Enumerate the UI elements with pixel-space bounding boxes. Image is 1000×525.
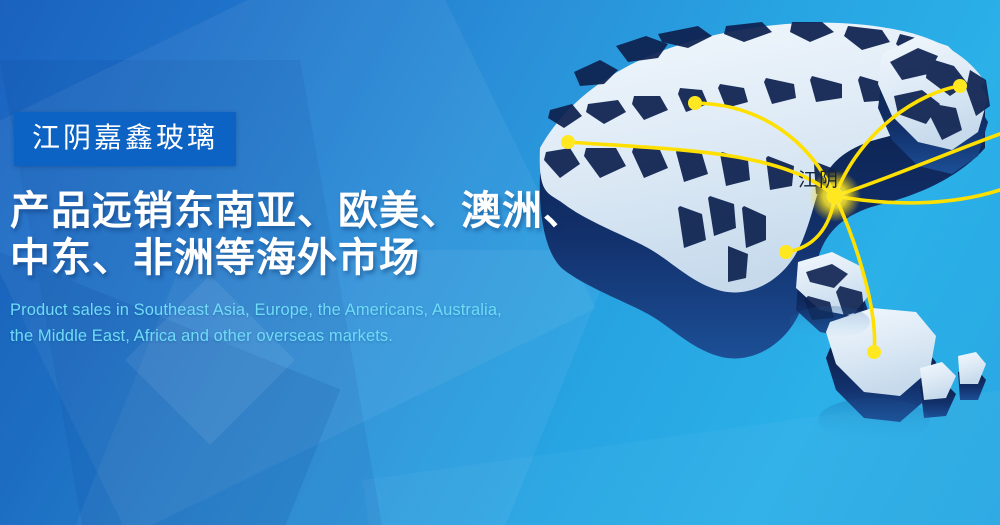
headline-line-2: 中东、非洲等海外市场 [10, 235, 590, 282]
world-map-graphic: 江阴 [530, 0, 1000, 460]
subtitle-line-1: Product sales in Southeast Asia, Europe,… [10, 298, 590, 324]
map-hub-label: 江阴 [798, 165, 840, 192]
route-node-europe [688, 96, 702, 110]
headline-line-1: 产品远销东南亚、欧美、澳洲、 [10, 188, 590, 235]
promo-banner: 江阴 江阴嘉鑫玻璃 产品远销东南亚、欧美、澳洲、 中东、非洲等海外市场 Prod… [0, 0, 1000, 525]
brand-badge: 江阴嘉鑫玻璃 [14, 112, 236, 166]
route-node-australia [867, 345, 881, 359]
subtitle: Product sales in Southeast Asia, Europe,… [10, 298, 590, 349]
headline: 产品远销东南亚、欧美、澳洲、 中东、非洲等海外市场 [10, 188, 590, 282]
banner-text-block: 江阴嘉鑫玻璃 产品远销东南亚、欧美、澳洲、 中东、非洲等海外市场 Product… [10, 112, 590, 350]
subtitle-line-2: the Middle East, Africa and other overse… [10, 324, 590, 350]
route-node-southeast-asia [779, 245, 793, 259]
route-node-northeast-asia [953, 79, 967, 93]
